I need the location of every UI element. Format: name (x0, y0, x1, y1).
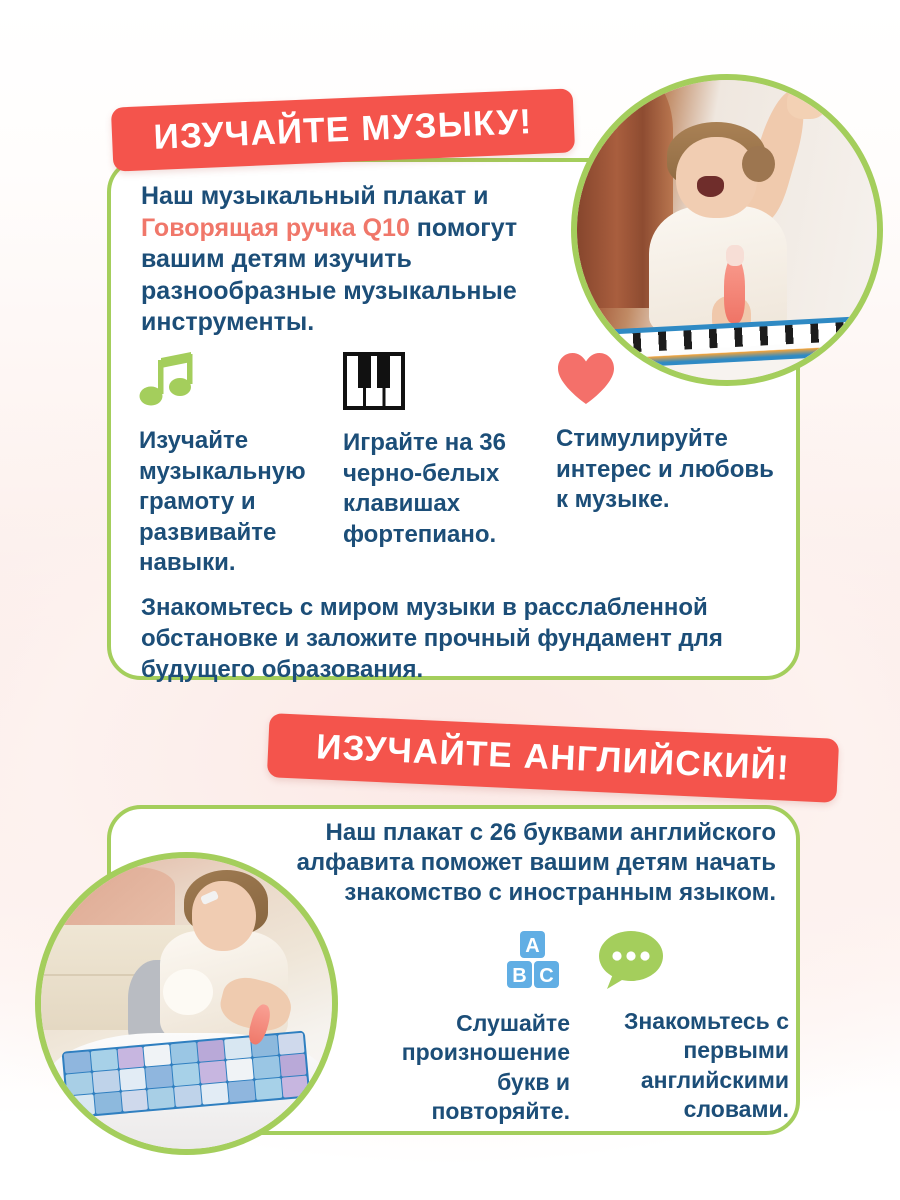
music-note-icon (139, 352, 329, 416)
english-intro-text: Наш плакат с 26 буквами английского алфа… (260, 818, 776, 909)
svg-text:C: C (539, 965, 553, 987)
english-section-banner: ИЗУЧАЙТЕ АНГЛИЙСКИЙ! (267, 713, 839, 803)
feature-love-music: Стимулируйте интерес и любовь к музыке. (556, 352, 788, 516)
feature-music-notation-label: Изучайте музыкальную грамоту и развивайт… (139, 426, 329, 578)
feature-piano-keys-label: Играйте на 36 черно-белых клавишах форте… (343, 428, 543, 550)
feature-first-words: Знакомьтесь с первыми английскими словам… (597, 930, 789, 1124)
svg-text:A: A (525, 935, 539, 957)
music-photo-image (577, 80, 877, 380)
svg-text:B: B (512, 965, 526, 987)
feature-listen-pronunciation: A B C Слушайте произношение букв и повто… (380, 930, 570, 1126)
feature-love-music-label: Стимулируйте интерес и любовь к музыке. (556, 424, 788, 515)
feature-first-words-label: Знакомьтесь с первыми английскими словам… (597, 1007, 789, 1124)
music-section-photo (571, 74, 883, 386)
feature-music-notation: Изучайте музыкальную грамоту и развивайт… (139, 352, 329, 579)
music-intro-part1: Наш музыкальный плакат и (141, 182, 489, 210)
english-section-photo (35, 852, 338, 1155)
heart-icon (556, 352, 788, 414)
feature-listen-pronunciation-label: Слушайте произношение букв и повторяйте. (380, 1009, 570, 1126)
music-closing-text: Знакомьтесь с миром музыки в расслабленн… (141, 592, 781, 686)
feature-piano-keys: Играйте на 36 черно-белых клавишах форте… (343, 352, 543, 550)
music-intro-highlight: Говорящая ручка Q10 (141, 214, 410, 242)
piano-keys-icon (343, 352, 543, 418)
abc-blocks-icon: A B C (494, 930, 570, 999)
music-intro-text: Наш музыкальный плакат и Говорящая ручка… (141, 181, 561, 339)
speech-bubble-icon (597, 930, 665, 997)
english-photo-image (41, 858, 332, 1149)
